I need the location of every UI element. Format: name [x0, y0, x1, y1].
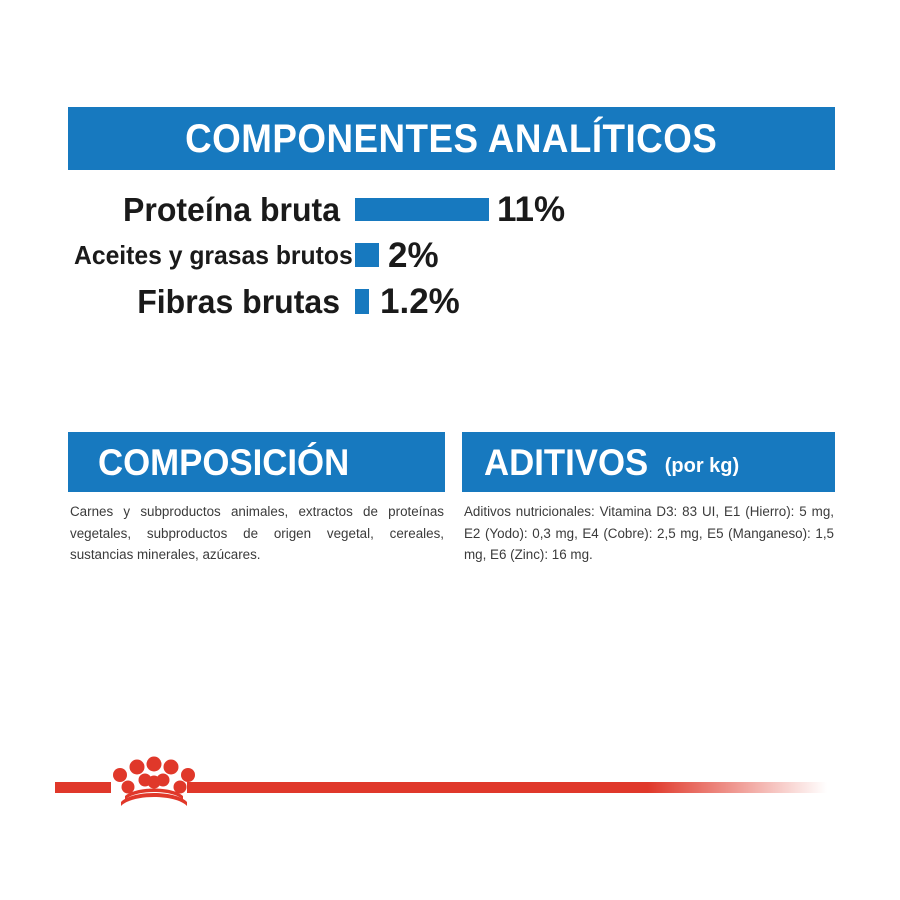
- composition-title: COMPOSICIÓN: [98, 444, 349, 481]
- nutrition-panel: COMPONENTES ANALÍTICOS Proteína bruta 11…: [0, 0, 900, 900]
- analytical-row-bar: [355, 289, 369, 314]
- analytical-row-bar: [355, 243, 379, 267]
- analytical-row-label: Fibras brutas: [68, 285, 340, 318]
- analytical-components-title: COMPONENTES ANALÍTICOS: [185, 119, 717, 159]
- additives-title: ADITIVOS: [484, 444, 648, 481]
- analytical-row-value: 11%: [497, 192, 565, 227]
- composition-section: COMPOSICIÓN Carnes y subproductos animal…: [68, 432, 445, 566]
- analytical-row-value: 2%: [388, 238, 439, 273]
- analytical-row: Aceites y grasas brutos 2%: [60, 232, 850, 278]
- analytical-row-label: Proteína bruta: [68, 193, 340, 226]
- additives-header: ADITIVOS (por kg): [462, 432, 835, 492]
- analytical-row: Fibras brutas 1.2%: [60, 278, 850, 324]
- footer-brand-bar: [0, 755, 900, 815]
- analytical-row: Proteína bruta 11%: [60, 186, 850, 232]
- composition-body: Carnes y subproductos animales, extracto…: [68, 501, 445, 566]
- footer-rule-left: [55, 782, 111, 793]
- analytical-row-bar: [355, 198, 489, 221]
- footer-rule-right: [187, 782, 827, 793]
- royal-canin-crown-icon: [112, 755, 196, 807]
- analytical-row-label: Aceites y grasas brutos: [74, 242, 340, 268]
- additives-body: Aditivos nutricionales: Vitamina D3: 83 …: [462, 501, 835, 566]
- additives-subtitle: (por kg): [665, 456, 739, 476]
- composition-header: COMPOSICIÓN: [68, 432, 445, 492]
- analytical-components-chart: Proteína bruta 11% Aceites y grasas brut…: [60, 186, 850, 324]
- analytical-row-value: 1.2%: [380, 284, 460, 319]
- analytical-components-banner: COMPONENTES ANALÍTICOS: [68, 107, 835, 170]
- additives-section: ADITIVOS (por kg) Aditivos nutricionales…: [462, 432, 835, 566]
